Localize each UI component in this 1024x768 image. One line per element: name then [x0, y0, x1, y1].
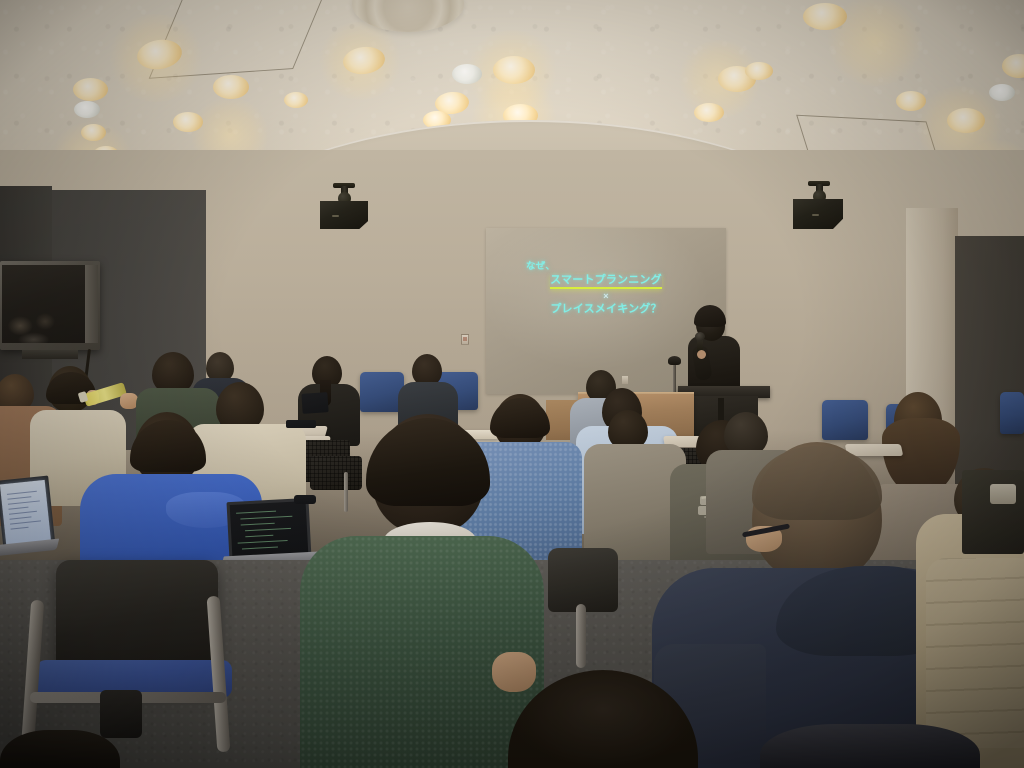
hand — [492, 652, 536, 692]
slide-line-1: なぜ、 — [526, 262, 555, 273]
attendee-partial-bottom-left — [0, 730, 120, 768]
chair-leg — [344, 472, 348, 512]
foreground-chair-partial-bottom-right — [760, 724, 980, 768]
downlight — [694, 103, 724, 122]
tablet-on-desk[interactable] — [301, 392, 328, 414]
projector-status-led — [332, 215, 339, 217]
chair-frame-leg — [576, 604, 586, 668]
wall-monitor-bracket — [22, 350, 78, 359]
paper-cup — [990, 484, 1016, 504]
downlight — [947, 108, 985, 133]
lecture-hall-photo: なぜ、 スマートプランニング × プレイスメイキング？ — [0, 0, 1024, 768]
slide-content: なぜ、 スマートプランニング × プレイスメイキング？ — [486, 262, 726, 342]
chair-base — [100, 690, 142, 738]
slide-line-2-underlined: スマートプランニング — [550, 274, 662, 289]
ceiling-projector — [320, 201, 368, 229]
foreground-chair-back[interactable] — [548, 548, 618, 612]
downlight — [73, 78, 108, 101]
speaker-badge — [812, 214, 819, 216]
seminar-chair-back[interactable] — [822, 400, 868, 440]
handheld-microphone-head — [695, 332, 705, 341]
microphone-stand-head — [668, 356, 681, 365]
downlight — [81, 124, 106, 141]
downlight — [493, 56, 535, 84]
downlight — [452, 64, 482, 84]
wall-plate — [622, 376, 628, 384]
phone-on-desk[interactable] — [294, 495, 316, 504]
downlight — [74, 101, 100, 118]
wall-outlet-label — [463, 337, 467, 341]
downlight — [213, 75, 249, 99]
downlight — [803, 3, 847, 30]
downlight — [989, 84, 1015, 101]
tablet-stand — [286, 420, 316, 428]
wall-monitor-reflection — [2, 300, 85, 343]
laptop-open-left-screen[interactable] — [0, 480, 51, 546]
puffer-quilting — [926, 558, 1024, 748]
downlight — [173, 112, 203, 132]
downlight — [745, 62, 773, 80]
wall-monitor-bezel — [85, 265, 98, 343]
slide-line-3-operator: × — [603, 291, 608, 301]
slide-line-4: プレイスメイキング？ — [550, 303, 661, 315]
downlight — [896, 91, 926, 111]
laptop-open-centre-screen[interactable] — [230, 501, 309, 558]
downlight — [284, 92, 308, 108]
seminar-chair-back[interactable] — [1000, 392, 1024, 434]
presenter-hand — [697, 350, 706, 359]
chair-mesh-back[interactable] — [310, 456, 362, 490]
side-monitor-back — [962, 470, 1024, 554]
